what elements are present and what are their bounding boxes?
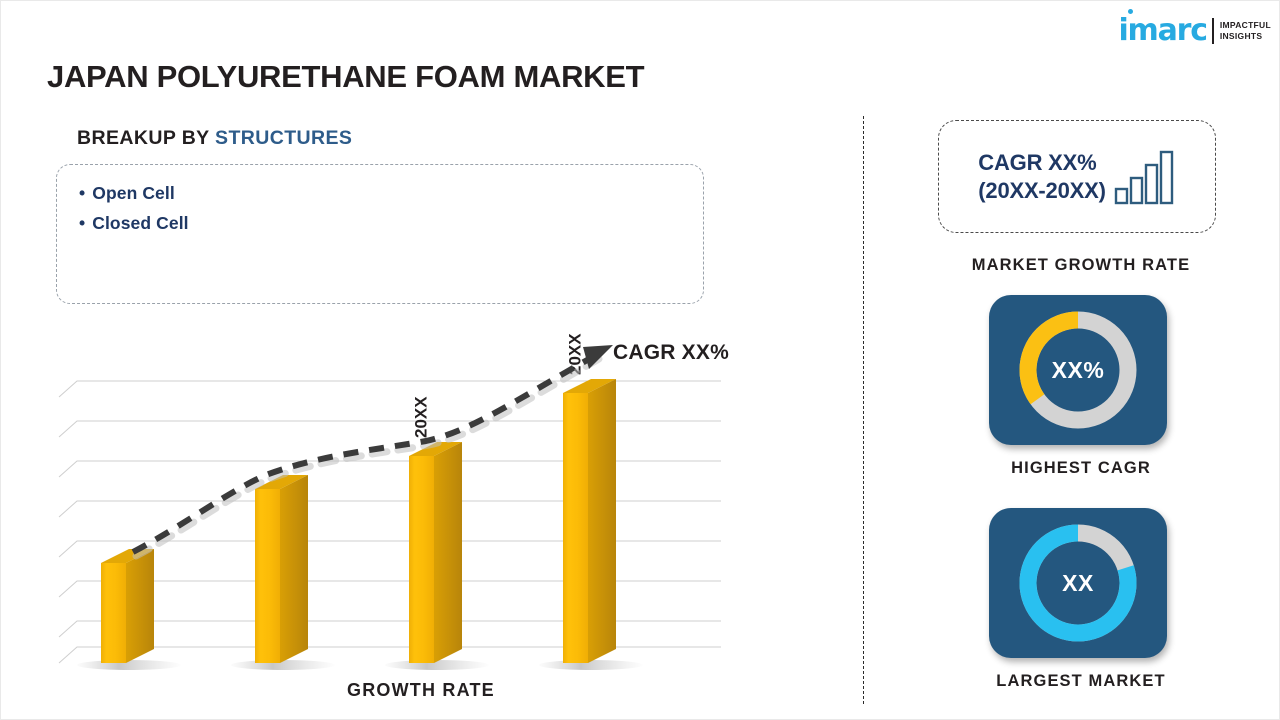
breakup-heading-highlight: STRUCTURES [215, 127, 352, 149]
bar-1 [101, 549, 154, 663]
list-item: Open Cell [79, 178, 703, 208]
bar-2 [255, 475, 308, 663]
bar-4: 20XX [563, 333, 616, 663]
breakup-heading-prefix: BREAKUP BY [77, 127, 215, 149]
logo-tagline: IMPACTFUL INSIGHTS [1220, 20, 1271, 43]
slide-canvas: imarc IMPACTFUL INSIGHTS JAPAN POLYURETH… [0, 0, 1280, 720]
largest-market-value: XX [1014, 519, 1142, 647]
list-item: Closed Cell [79, 208, 703, 238]
bar-chart-svg: 20XX 20XX [51, 331, 751, 681]
chart-cagr-annotation: CAGR XX% [613, 341, 729, 365]
breakup-heading: BREAKUP BY STRUCTURES [77, 127, 352, 150]
cagr-line-1: CAGR XX% [978, 149, 1105, 177]
bar-shadows [77, 660, 643, 670]
structures-box: Open Cell Closed Cell [56, 164, 704, 304]
logo-tagline-line-1: IMPACTFUL [1220, 20, 1271, 31]
page-title: JAPAN POLYURETHANE FOAM MARKET [47, 59, 644, 95]
cagr-text: CAGR XX% (20XX-20XX) [978, 149, 1105, 204]
highest-cagr-donut: XX% [1014, 306, 1142, 434]
logo-tagline-line-2: INSIGHTS [1220, 31, 1271, 42]
market-growth-rate-box: CAGR XX% (20XX-20XX) [938, 120, 1216, 233]
vertical-divider [863, 116, 864, 704]
highest-cagr-tile: XX% [989, 295, 1167, 445]
largest-market-tile: XX [989, 508, 1167, 658]
cagr-line-2: (20XX-20XX) [978, 177, 1105, 205]
logo-divider [1212, 18, 1214, 44]
structures-list: Open Cell Closed Cell [57, 165, 703, 238]
largest-market-caption: LARGEST MARKET [901, 672, 1261, 691]
chart-gridlines [59, 381, 721, 663]
highest-cagr-caption: HIGHEST CAGR [901, 459, 1261, 478]
chart-x-axis-label: GROWTH RATE [347, 680, 495, 701]
growth-rate-bar-chart: 20XX 20XX [51, 331, 751, 681]
largest-market-donut: XX [1014, 519, 1142, 647]
market-growth-rate-caption: MARKET GROWTH RATE [901, 256, 1261, 275]
highest-cagr-value: XX% [1014, 306, 1142, 434]
logo-wordmark: imarc [1118, 16, 1209, 46]
logo-wordmark-text: imarc [1118, 13, 1206, 48]
trend-arrow [133, 345, 613, 556]
bar-chart-icon [1114, 149, 1176, 205]
imarc-logo: imarc IMPACTFUL INSIGHTS [1118, 11, 1271, 51]
bar-label-3: 20XX [412, 396, 431, 438]
